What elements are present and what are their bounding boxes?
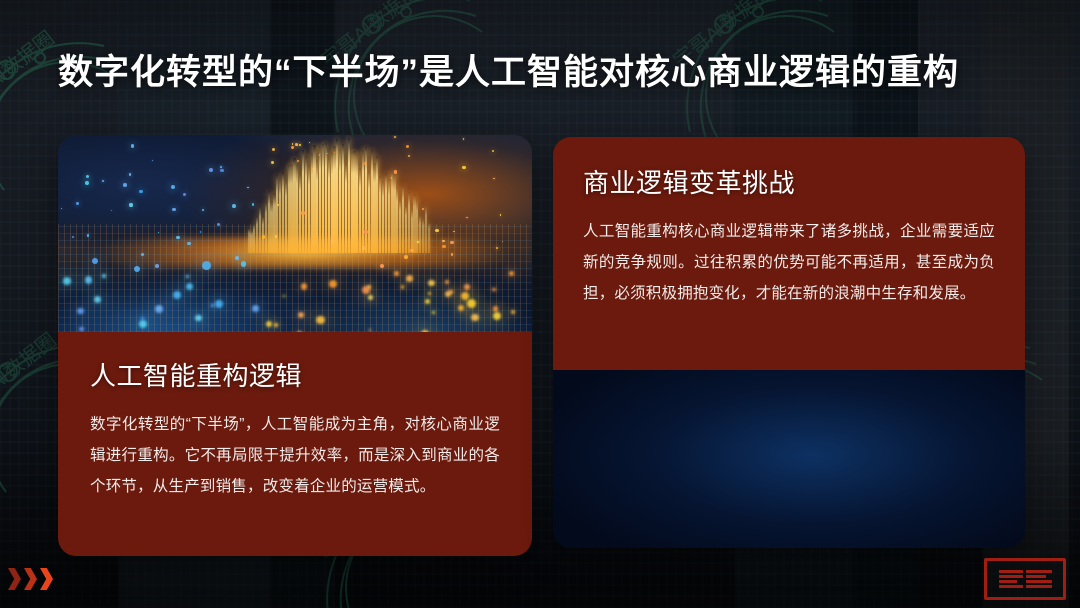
seal-glyph-right (1026, 570, 1052, 588)
card-right[interactable]: 商业逻辑变革挑战 人工智能重构核心商业逻辑带来了诸多挑战，企业需要适应新的竞争规… (553, 137, 1025, 548)
seal-glyph-left (999, 570, 1023, 588)
card-left[interactable]: 人工智能重构逻辑 数字化转型的“下半场”，人工智能成为主角，对核心商业逻辑进行重… (58, 135, 532, 556)
card-left-heading: 人工智能重构逻辑 (90, 356, 500, 393)
card-right-heading: 商业逻辑变革挑战 (583, 163, 995, 200)
card-left-paragraph: 数字化转型的“下半场”，人工智能成为主角，对核心商业逻辑进行重构。它不再局限于提… (90, 409, 500, 502)
chevron-right-icon-2 (24, 568, 37, 590)
abstract-data-landscape-image (58, 135, 532, 332)
card-right-paragraph: 人工智能重构核心商业逻辑带来了诸多挑战，企业需要适应新的竞争规则。过往积累的优势… (583, 216, 995, 309)
card-right-body: 商业逻辑变革挑战 人工智能重构核心商业逻辑带来了诸多挑战，企业需要适应新的竞争规… (553, 137, 1025, 329)
chevron-right-icon-1 (8, 568, 21, 590)
chevron-arrows-decoration (8, 568, 53, 590)
chevron-right-icon-3 (40, 568, 53, 590)
financial-candlestick-chart-image (553, 370, 1025, 548)
card-left-body: 人工智能重构逻辑 数字化转型的“下半场”，人工智能成为主角，对核心商业逻辑进行重… (58, 332, 532, 524)
slide-root: 宇哥AI数据圈 宇哥AI数据圈 宇哥AI数据圈 (0, 0, 1080, 608)
red-seal-stamp-logo (984, 558, 1066, 600)
page-title: 数字化转型的“下半场”是人工智能对核心商业逻辑的重构 (58, 44, 959, 95)
